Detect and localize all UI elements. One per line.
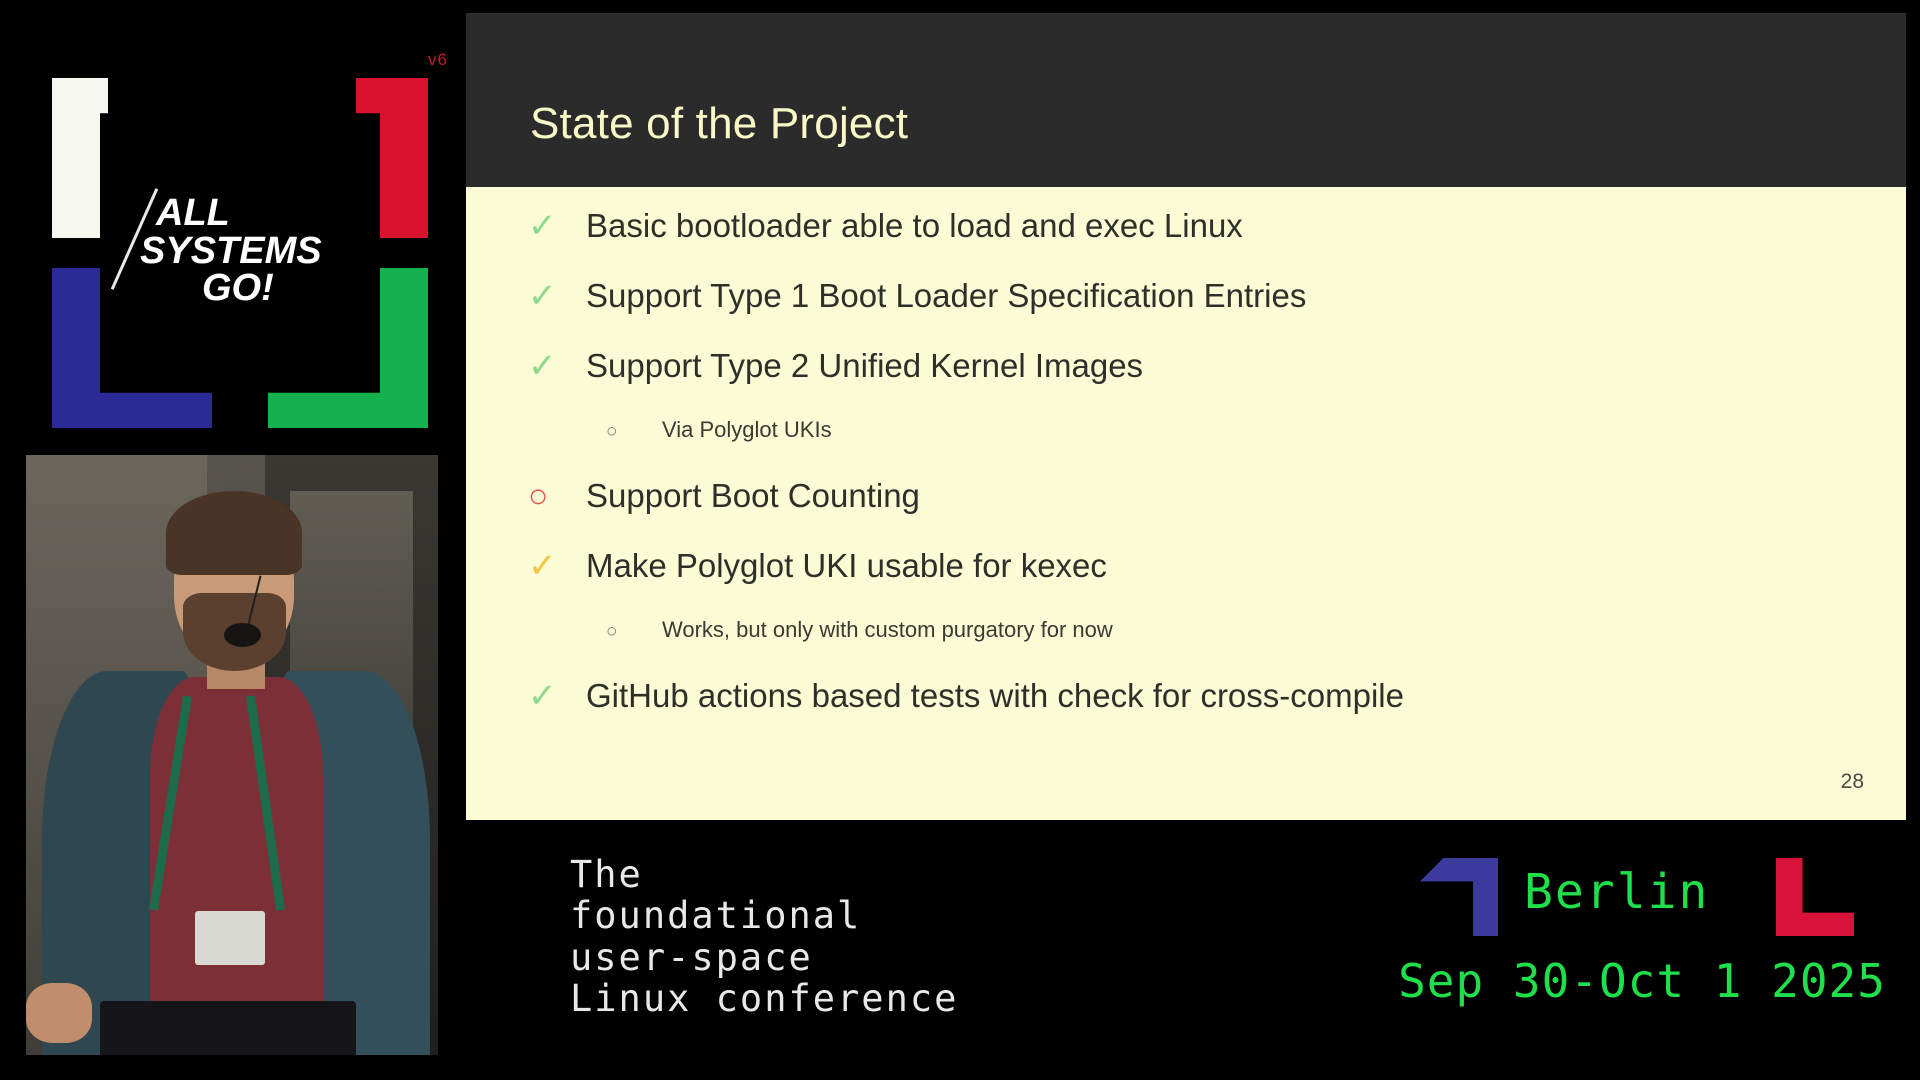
logo-wordmark-line-3: GO!	[202, 270, 410, 308]
sub-bullet-item: ○ Works, but only with custom purgatory …	[466, 619, 1906, 679]
bullet-item: ✓ Support Type 1 Boot Loader Specificati…	[466, 279, 1906, 349]
slide-bullet-list: ✓ Basic bootloader able to load and exec…	[466, 187, 1906, 820]
logo-wordmark-line-1: ALL	[156, 195, 410, 233]
check-icon: ✓	[528, 549, 586, 583]
bullet-item: ✓ Make Polyglot UKI usable for kexec	[466, 549, 1906, 619]
circle-icon: ○	[606, 422, 662, 441]
bullet-text: GitHub actions based tests with check fo…	[586, 679, 1404, 712]
speaker-hair	[166, 491, 302, 575]
banner-arrow-blue-icon	[1420, 858, 1498, 936]
bullet-item: ✓ Basic bootloader able to load and exec…	[466, 209, 1906, 279]
microphone-icon	[224, 623, 261, 647]
version-tag: v6	[428, 50, 448, 70]
bullet-text: Support Boot Counting	[586, 479, 920, 512]
banner-dates: Sep 30-Oct 1 2025	[1382, 954, 1902, 1008]
circle-icon: ○	[528, 479, 586, 513]
check-icon: ✓	[528, 209, 586, 243]
bullet-item: ✓ GitHub actions based tests with check …	[466, 679, 1906, 749]
speaker-hand	[26, 983, 92, 1043]
logo-wordmark: ALL SYSTEMS GO!	[140, 195, 410, 308]
check-icon: ✓	[528, 679, 586, 713]
bullet-text: Basic bootloader able to load and exec L…	[586, 209, 1243, 242]
conference-banner: The foundational user-space Linux confer…	[466, 820, 1920, 1080]
slide-title: State of the Project	[530, 99, 908, 149]
sub-bullet-text: Works, but only with custom purgatory fo…	[662, 619, 1113, 641]
laptop	[100, 1001, 355, 1055]
sub-bullet-text: Via Polyglot UKIs	[662, 419, 832, 441]
bullet-text: Support Type 1 Boot Loader Specification…	[586, 279, 1306, 312]
banner-arrow-red-icon	[1776, 858, 1854, 936]
slide: State of the Project ✓ Basic bootloader …	[466, 13, 1906, 820]
conference-logo: ALL SYSTEMS GO! v6	[0, 0, 466, 455]
logo-wordmark-line-2: SYSTEMS	[140, 233, 410, 271]
speaker-badge	[195, 911, 265, 965]
speaker-video-feed	[26, 455, 438, 1055]
banner-tagline: The foundational user-space Linux confer…	[570, 854, 958, 1020]
presentation-stream: ALL SYSTEMS GO! v6	[0, 0, 1920, 1080]
bullet-text: Support Type 2 Unified Kernel Images	[586, 349, 1143, 382]
check-icon: ✓	[528, 349, 586, 383]
circle-icon: ○	[606, 622, 662, 641]
banner-location-block: Berlin Sep 30-Oct 1 2025	[1382, 850, 1902, 1050]
slide-page-number: 28	[1841, 770, 1864, 794]
banner-city: Berlin	[1524, 864, 1709, 920]
speaker-shirt	[150, 677, 323, 1055]
bullet-item: ○ Support Boot Counting	[466, 479, 1906, 549]
bullet-text: Make Polyglot UKI usable for kexec	[586, 549, 1107, 582]
left-sidebar: ALL SYSTEMS GO! v6	[0, 0, 466, 1080]
check-icon: ✓	[528, 279, 586, 313]
sub-bullet-item: ○ Via Polyglot UKIs	[466, 419, 1906, 479]
bullet-item: ✓ Support Type 2 Unified Kernel Images	[466, 349, 1906, 419]
